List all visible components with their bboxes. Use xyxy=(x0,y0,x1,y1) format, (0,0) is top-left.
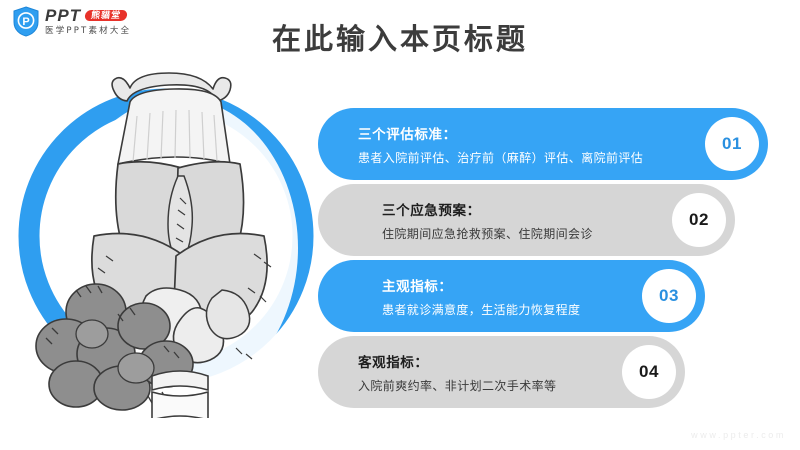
row-body: 患者入院前评估、治疗前（麻醉）评估、离院前评估 xyxy=(358,149,643,166)
list-item[interactable]: 三个评估标准： 患者入院前评估、治疗前（麻醉）评估、离院前评估 01 xyxy=(318,108,768,180)
list-item[interactable]: 客观指标： 入院前爽约率、非计划二次手术率等 04 xyxy=(318,336,685,408)
row-text: 三个应急预案： 住院期间应急抢救预案、住院期间会诊 xyxy=(382,199,593,242)
row-body: 住院期间应急抢救预案、住院期间会诊 xyxy=(382,225,593,242)
row-text: 三个评估标准： 患者入院前评估、治疗前（麻醉）评估、离院前评估 xyxy=(358,123,643,166)
list-item[interactable]: 主观指标： 患者就诊满意度，生活能力恢复程度 03 xyxy=(318,260,705,332)
row-number-badge: 01 xyxy=(705,117,759,171)
row-heading: 三个应急预案： xyxy=(382,199,593,219)
row-text: 客观指标： 入院前爽约率、非计划二次手术率等 xyxy=(358,351,556,394)
row-text: 主观指标： 患者就诊满意度，生活能力恢复程度 xyxy=(382,275,580,318)
page-title: 在此输入本页标题 xyxy=(0,16,800,58)
row-heading: 主观指标： xyxy=(382,275,580,295)
anatomy-knee-illustration xyxy=(18,58,338,418)
row-number-badge: 02 xyxy=(672,193,726,247)
slide-canvas: P PPT 熊貓堂 医学PPT素材大全 在此输入本页标题 xyxy=(0,0,800,450)
row-heading: 客观指标： xyxy=(358,351,556,371)
row-body: 患者就诊满意度，生活能力恢复程度 xyxy=(382,301,580,318)
row-body: 入院前爽约率、非计划二次手术率等 xyxy=(358,377,556,394)
list-item[interactable]: 三个应急预案： 住院期间应急抢救预案、住院期间会诊 02 xyxy=(318,184,735,256)
footer-watermark: www.ppter.com xyxy=(691,430,786,440)
row-number-badge: 03 xyxy=(642,269,696,323)
row-heading: 三个评估标准： xyxy=(358,123,643,143)
row-number-badge: 04 xyxy=(622,345,676,399)
